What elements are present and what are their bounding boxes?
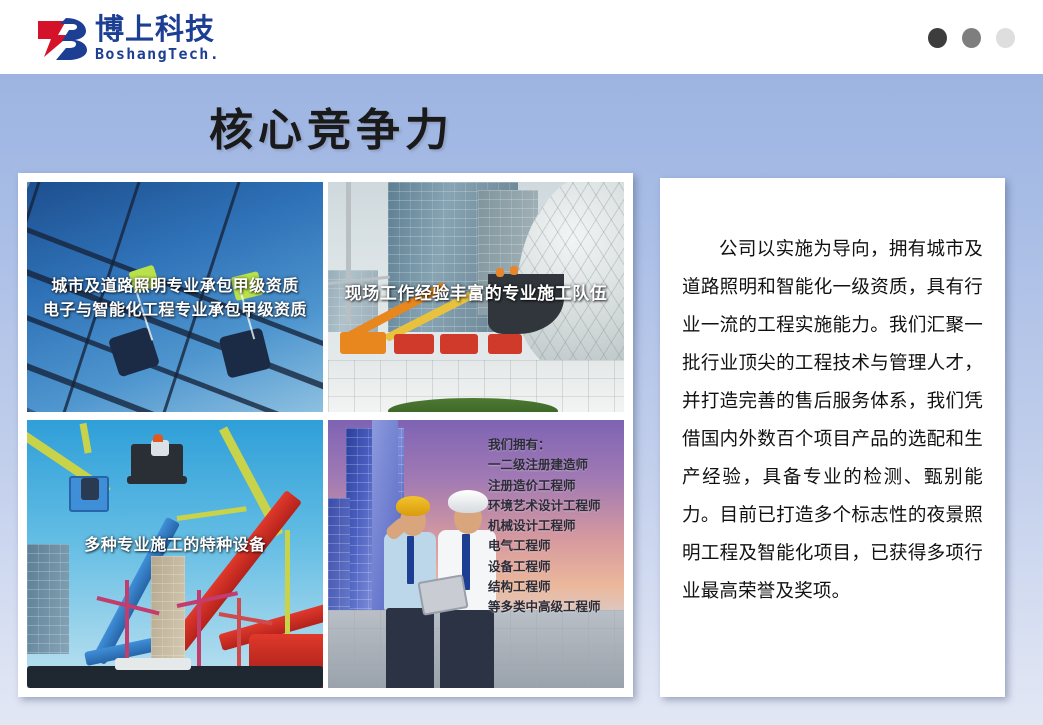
company-logo[interactable]: 博上科技 BoshangTech. xyxy=(36,11,296,65)
slide-indicator-dots[interactable] xyxy=(928,28,1015,48)
gallery-card: 城市及道路照明专业承包甲级资质 电子与智能化工程专业承包甲级资质 xyxy=(18,173,633,697)
curtain-wall-photo xyxy=(27,182,323,412)
dot-mid[interactable] xyxy=(962,28,981,48)
logo-name-en: BoshangTech. xyxy=(95,47,220,62)
boshang-logo-icon xyxy=(36,15,88,61)
gallery-tile-equipment[interactable]: 多种专业施工的特种设备 xyxy=(27,420,323,688)
dot-inactive[interactable] xyxy=(996,28,1015,48)
page-title: 核心竞争力 xyxy=(0,94,1043,158)
presentation-slide: 博上科技 BoshangTech. 核心竞争力 xyxy=(0,0,1043,725)
engineers-photo xyxy=(328,420,624,688)
boom-lift-photo xyxy=(27,420,323,688)
construction-site-photo xyxy=(328,182,624,412)
dot-active[interactable] xyxy=(928,28,947,48)
logo-name-cn: 博上科技 xyxy=(95,15,220,44)
description-card: 公司以实施为导向，拥有城市及道路照明和智能化一级资质，具有行业一流的工程实施能力… xyxy=(660,178,1005,697)
slide-header: 博上科技 BoshangTech. xyxy=(0,0,1043,74)
image-mosaic: 城市及道路照明专业承包甲级资质 电子与智能化工程专业承包甲级资质 xyxy=(27,182,624,688)
gallery-tile-talent[interactable]: 我们拥有： 一二级注册建造师 注册造价工程师 环境艺术设计工程师 机械设计工程师… xyxy=(328,420,624,688)
logo-wordmark: 博上科技 BoshangTech. xyxy=(95,15,220,62)
description-paragraph: 公司以实施为导向，拥有城市及道路照明和智能化一级资质，具有行业一流的工程实施能力… xyxy=(682,231,983,612)
gallery-tile-site-team[interactable]: 现场工作经验丰富的专业施工队伍 xyxy=(328,182,624,412)
slide-canvas: 核心竞争力 xyxy=(0,74,1043,725)
gallery-tile-qualifications[interactable]: 城市及道路照明专业承包甲级资质 电子与智能化工程专业承包甲级资质 xyxy=(27,182,323,412)
